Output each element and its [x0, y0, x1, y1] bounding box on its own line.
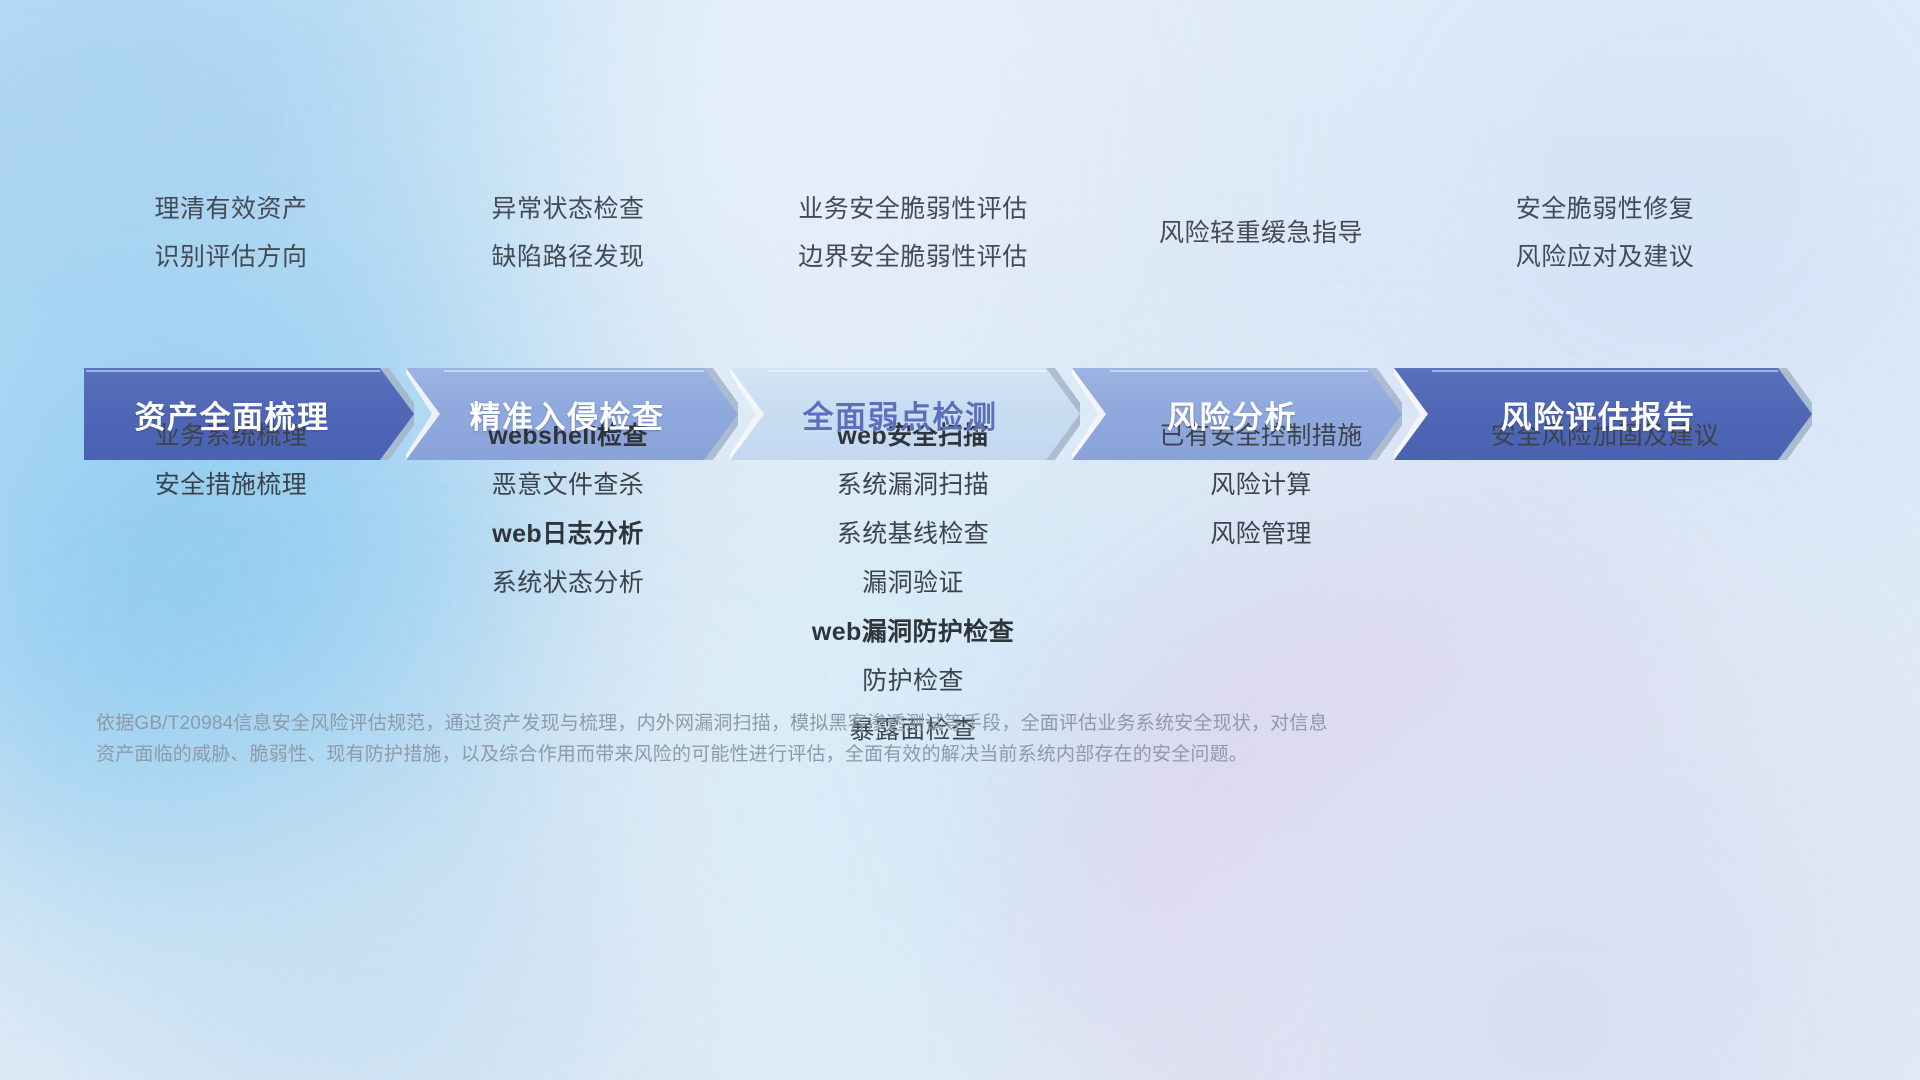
stage-title-weakness-detection: 全面弱点检测	[730, 392, 1080, 437]
stage-top-notes-row: 理清有效资产识别评估方向异常状态检查缺陷路径发现业务安全脆弱性评估边界安全脆弱性…	[0, 185, 1920, 295]
stage-item: web漏洞防护检查	[693, 608, 1133, 657]
process-diagram: 理清有效资产识别评估方向异常状态检查缺陷路径发现业务安全脆弱性评估边界安全脆弱性…	[0, 0, 1920, 1080]
stage-item: 风险计算	[1041, 461, 1481, 510]
stage-title-asset-inventory: 资产全面梳理	[84, 392, 414, 437]
top-note: 风险应对及建议	[1385, 233, 1825, 281]
footer-line-2: 资产面临的威胁、脆弱性、现有防护措施，以及综合作用而带来风险的可能性进行评估，全…	[96, 739, 1616, 770]
stage-item: 风险管理	[1041, 510, 1481, 559]
stage-title-risk-analysis: 风险分析	[1072, 392, 1402, 437]
stage-item: 漏洞验证	[693, 559, 1133, 608]
footer-description: 依据GB/T20984信息安全风险评估规范，通过资产发现与梳理，内外网漏洞扫描，…	[96, 708, 1616, 770]
stage-item: 防护检查	[693, 657, 1133, 706]
stage-title-risk-report: 风险评估报告	[1394, 392, 1812, 437]
top-note: 安全脆弱性修复	[1385, 185, 1825, 233]
footer-line-1: 依据GB/T20984信息安全风险评估规范，通过资产发现与梳理，内外网漏洞扫描，…	[96, 708, 1616, 739]
stage-top-notes-risk-report: 安全脆弱性修复风险应对及建议	[1385, 185, 1825, 281]
stage-title-intrusion-check: 精准入侵检查	[406, 392, 738, 437]
